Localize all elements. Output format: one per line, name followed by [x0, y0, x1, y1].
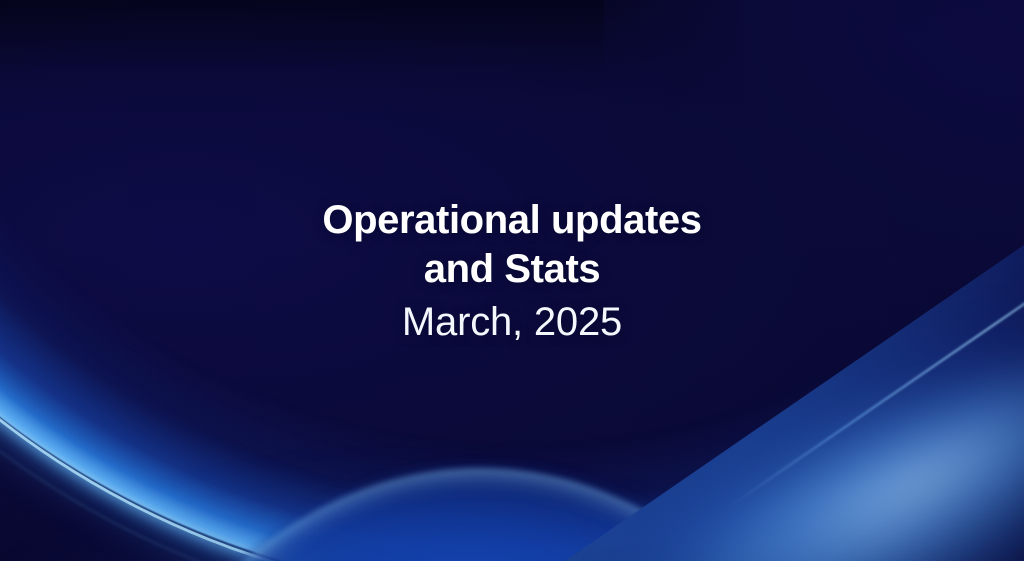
slide-title-line-2: and Stats — [0, 245, 1024, 294]
slide-subtitle-date: March, 2025 — [0, 296, 1024, 348]
slide-title-line-1: Operational updates — [0, 196, 1024, 245]
slide-text-block: Operational updates and Stats March, 202… — [0, 196, 1024, 348]
title-slide: Operational updates and Stats March, 202… — [0, 0, 1024, 561]
